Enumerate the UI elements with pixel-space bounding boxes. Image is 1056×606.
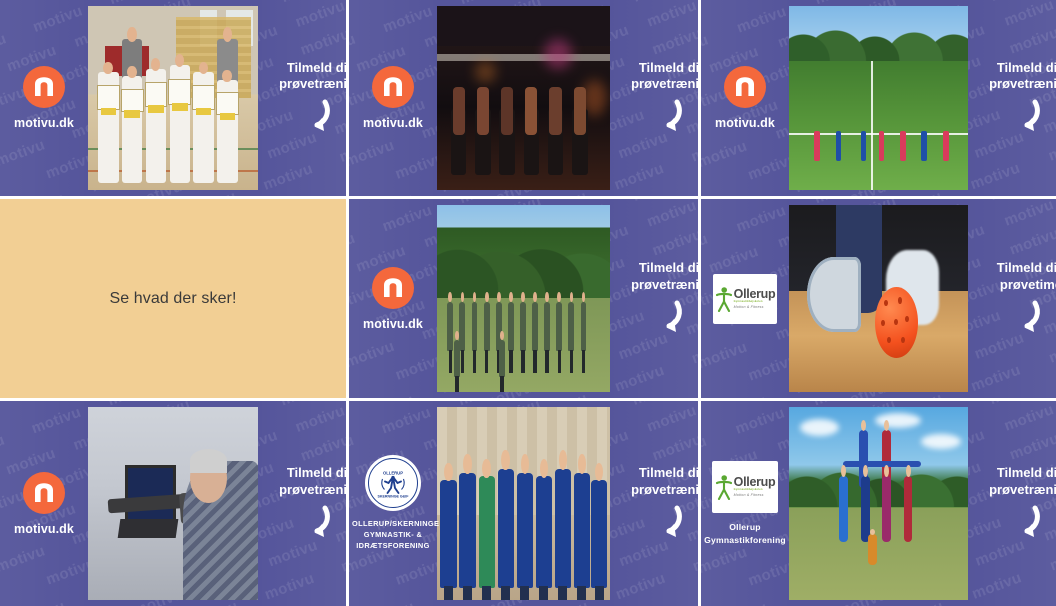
club-caption-line-1: Ollerup (704, 521, 786, 534)
photo-shooting (88, 407, 258, 600)
card-photo[interactable] (88, 6, 258, 190)
logo-column: motivu.dk (701, 0, 789, 196)
motivu-wordmark: motivu.dk (715, 116, 775, 130)
ad-card-boys-team[interactable]: motivumotivumotivumotivumotivumotivumoti… (349, 401, 698, 606)
highlight-card[interactable]: Se hvad der sker! (0, 199, 346, 398)
motivu-wordmark: motivu.dk (14, 116, 74, 130)
ollerup-skerninge-crest-icon: OLLERUP SKERNINGE G&IF (365, 455, 421, 511)
card-photo[interactable] (437, 6, 610, 190)
cta-column[interactable]: Tilmeld dig prøvetræning (610, 401, 698, 606)
cta-text: Tilmeld dig prøvetræning (631, 60, 698, 93)
card-photo[interactable] (789, 6, 968, 190)
grid-cell-1[interactable]: motivumotivumotivumotivumotivumotivumoti… (0, 0, 349, 199)
ad-card-running-team[interactable]: motivumotivumotivumotivumotivumotivumoti… (349, 199, 698, 398)
grid-cell-4[interactable]: Se hvad der sker! (0, 199, 349, 401)
cta-line-2: prøvetræning (631, 482, 698, 498)
highlight-card-text: Se hvad der sker! (0, 199, 346, 398)
cta-column[interactable]: Tilmeld dig prøvetræning (610, 0, 698, 196)
logo-column: Ollerup Gymnastikhøjskolen Motion & Fitn… (701, 401, 789, 606)
grid-cell-3[interactable]: motivumotivumotivumotivumotivumotivumoti… (701, 0, 1056, 199)
logo-column: motivu.dk (349, 199, 437, 398)
club-caption-line-2: Gymnastikforening (704, 534, 786, 547)
curved-arrow-down-left-icon (644, 299, 686, 337)
photo-karate (88, 6, 258, 190)
logo-column: OLLERUP SKERNINGE G&IF OLLERUP/SKERNINGE… (349, 401, 437, 606)
cta-line-1: Tilmeld dig (631, 60, 698, 76)
ad-card-spinning[interactable]: motivumotivumotivumotivumotivumotivumoti… (349, 0, 698, 196)
ollerup-motion-logo-icon: Ollerup Gymnastikhøjskolen Motion & Fitn… (713, 274, 777, 324)
cta-column[interactable]: Tilmeld dig prøvetræning (258, 0, 346, 196)
club-caption-line-3: IDRÆTSFORENING (352, 541, 434, 552)
ollerup-logo-sub: Gymnastikhøjskolen (734, 301, 776, 304)
photo-boys-team (437, 407, 610, 600)
cta-line-1: Tilmeld dig (997, 260, 1056, 276)
club-caption: Ollerup Gymnastikforening (704, 521, 786, 547)
ad-card-grid: motivumotivumotivumotivumotivumotivumoti… (0, 0, 1056, 606)
ollerup-logo-sub: Gymnastikhøjskolen (734, 489, 776, 492)
cta-line-1: Tilmeld dig (279, 465, 346, 481)
cta-line-2: prøvetræning (631, 277, 698, 293)
grid-cell-6[interactable]: motivumotivumotivumotivumotivumotivumoti… (701, 199, 1056, 401)
card-photo[interactable] (437, 407, 610, 600)
card-photo[interactable] (789, 407, 968, 600)
motivu-logo-icon (372, 66, 414, 108)
photo-floorball (789, 205, 968, 392)
cta-line-2: prøvetræning (989, 482, 1056, 498)
logo-column: motivu.dk (349, 0, 437, 196)
cta-line-2: prøvetime (997, 277, 1056, 293)
grid-cell-9[interactable]: motivumotivumotivumotivumotivumotivumoti… (701, 401, 1056, 606)
cta-column[interactable]: Tilmeld dig prøvetime (968, 199, 1056, 398)
cta-text: Tilmeld dig prøvetræning (989, 60, 1056, 93)
cta-line-1: Tilmeld dig (989, 465, 1056, 481)
ad-card-karate[interactable]: motivumotivumotivumotivumotivumotivumoti… (0, 0, 346, 196)
logo-column: Ollerup Gymnastikhøjskolen Motion & Fitn… (701, 199, 789, 398)
cta-line-2: prøvetræning (631, 76, 698, 92)
photo-gymnastics (789, 407, 968, 600)
grid-cell-7[interactable]: motivumotivumotivumotivumotivumotivumoti… (0, 401, 349, 606)
curved-arrow-down-left-icon (292, 98, 334, 136)
ad-card-gymnastics[interactable]: motivumotivumotivumotivumotivumotivumoti… (701, 401, 1056, 606)
curved-arrow-down-left-icon (1002, 504, 1044, 542)
cta-column[interactable]: Tilmeld dig prøvetræning (610, 199, 698, 398)
cta-line-1: Tilmeld dig (989, 60, 1056, 76)
motivu-logo-icon (23, 472, 65, 514)
curved-arrow-down-left-icon (292, 504, 334, 542)
ollerup-logo-tagline: Motion & Fitness (734, 494, 776, 498)
cta-column[interactable]: Tilmeld dig prøvetræning (968, 0, 1056, 196)
motivu-wordmark: motivu.dk (363, 317, 423, 331)
photo-running-team (437, 205, 610, 392)
ollerup-logo-word: Ollerup (734, 288, 776, 301)
logo-column: motivu.dk (0, 401, 88, 606)
cta-line-1: Tilmeld dig (279, 60, 346, 76)
grid-cell-8[interactable]: motivumotivumotivumotivumotivumotivumoti… (349, 401, 701, 606)
curved-arrow-down-left-icon (644, 98, 686, 136)
grid-cell-5[interactable]: motivumotivumotivumotivumotivumotivumoti… (349, 199, 701, 401)
logo-column: motivu.dk (0, 0, 88, 196)
motivu-logo-icon (372, 267, 414, 309)
ad-card-floorball[interactable]: motivumotivumotivumotivumotivumotivumoti… (701, 199, 1056, 398)
cta-text: Tilmeld dig prøvetime (997, 260, 1056, 293)
cta-line-1: Tilmeld dig (631, 260, 698, 276)
cta-line-2: prøvetræning (279, 482, 346, 498)
ad-card-shooting[interactable]: motivumotivumotivumotivumotivumotivumoti… (0, 401, 346, 606)
photo-spinning (437, 6, 610, 190)
motivu-logo-icon (23, 66, 65, 108)
club-caption: OLLERUP/SKERNINGE GYMNASTIK- & IDRÆTSFOR… (352, 519, 434, 551)
ollerup-gymnastikforening-logo-icon: Ollerup Gymnastikhøjskolen Motion & Fitn… (712, 461, 778, 513)
motivu-logo-icon (724, 66, 766, 108)
club-caption-line-2: GYMNASTIK- & (352, 530, 434, 541)
cta-text: Tilmeld dig prøvetræning (631, 465, 698, 498)
ollerup-logo-word: Ollerup (734, 476, 776, 489)
club-caption-line-1: OLLERUP/SKERNINGE (352, 519, 434, 530)
cta-column[interactable]: Tilmeld dig prøvetræning (968, 401, 1056, 606)
cta-text: Tilmeld dig prøvetræning (279, 465, 346, 498)
curved-arrow-down-left-icon (644, 504, 686, 542)
card-photo[interactable] (437, 205, 610, 392)
photo-football (789, 6, 968, 190)
motivu-wordmark: motivu.dk (14, 522, 74, 536)
card-photo[interactable] (789, 205, 968, 392)
cta-text: Tilmeld dig prøvetræning (631, 260, 698, 293)
curved-arrow-down-left-icon (1002, 299, 1044, 337)
cta-line-1: Tilmeld dig (631, 465, 698, 481)
card-photo[interactable] (88, 407, 258, 600)
ollerup-logo-tagline: Motion & Fitness (734, 306, 776, 310)
cta-line-2: prøvetræning (989, 76, 1056, 92)
grid-cell-2[interactable]: motivumotivumotivumotivumotivumotivumoti… (349, 0, 701, 199)
cta-text: Tilmeld dig prøvetræning (279, 60, 346, 93)
cta-line-2: prøvetræning (279, 76, 346, 92)
curved-arrow-down-left-icon (1002, 98, 1044, 136)
motivu-wordmark: motivu.dk (363, 116, 423, 130)
cta-text: Tilmeld dig prøvetræning (989, 465, 1056, 498)
ad-card-football[interactable]: motivumotivumotivumotivumotivumotivumoti… (701, 0, 1056, 196)
cta-column[interactable]: Tilmeld dig prøvetræning (258, 401, 346, 606)
